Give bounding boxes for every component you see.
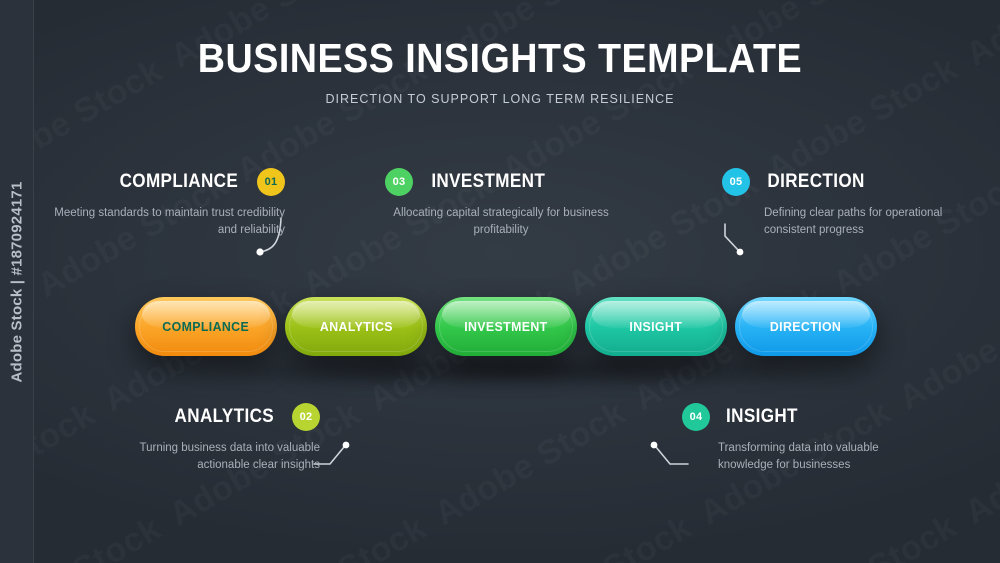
pill-analytics[interactable]: ANALYTICS <box>285 297 427 356</box>
info-desc-direction: Defining clear paths for operational con… <box>722 205 952 240</box>
stock-watermark-text: Adobe Stock | #1870924171 <box>8 181 25 382</box>
info-block-insight[interactable]: 04 INSIGHT Transforming data into valuab… <box>682 403 917 475</box>
pill-compliance[interactable]: COMPLIANCE <box>135 297 277 356</box>
badge-03: 03 <box>385 168 413 196</box>
info-title-analytics: ANALYTICS <box>175 406 275 428</box>
info-block-compliance[interactable]: COMPLIANCE 01 Meeting standards to maint… <box>50 168 285 240</box>
info-head-investment: 03 INVESTMENT <box>385 168 617 196</box>
infographic-canvas: Adobe StockAdobe StockAdobe StockAdobe S… <box>0 0 1000 563</box>
pill-row-shadow <box>150 352 870 388</box>
badge-02: 02 <box>292 403 320 431</box>
pill-insight[interactable]: INSIGHT <box>585 297 727 356</box>
watermark-text: Adobe Stock <box>229 508 433 563</box>
watermark-text: Adobe Stock <box>892 277 1000 417</box>
watermark-text: Adobe Stock <box>759 507 963 563</box>
info-desc-investment: Allocating capital strategically for bus… <box>385 205 617 240</box>
info-title-insight: INSIGHT <box>726 406 798 428</box>
pill-investment[interactable]: INVESTMENT <box>435 297 577 356</box>
watermark-text: Adobe Stock <box>428 393 632 533</box>
info-block-direction[interactable]: 05 DIRECTION Defining clear paths for op… <box>722 168 952 240</box>
info-head-insight: 04 INSIGHT <box>682 403 917 431</box>
info-desc-insight: Transforming data into valuable knowledg… <box>682 440 917 475</box>
info-head-compliance: COMPLIANCE 01 <box>50 168 285 196</box>
info-block-investment[interactable]: 03 INVESTMENT Allocating capital strateg… <box>385 168 617 240</box>
pill-label: INVESTMENT <box>464 319 547 334</box>
info-title-direction: DIRECTION <box>767 171 864 193</box>
pill-label: DIRECTION <box>770 319 841 334</box>
pill-label: ANALYTICS <box>320 319 393 334</box>
page-subtitle: DIRECTION TO SUPPORT LONG TERM RESILIENC… <box>0 92 1000 106</box>
pill-row: COMPLIANCEANALYTICSINVESTMENTINSIGHTDIRE… <box>135 297 877 356</box>
pill-label: INSIGHT <box>630 319 683 334</box>
watermark-text: Adobe Stock <box>958 392 1000 532</box>
info-block-analytics[interactable]: ANALYTICS 02 Turning business data into … <box>95 403 320 475</box>
pill-label: COMPLIANCE <box>163 319 250 334</box>
badge-04: 04 <box>682 403 710 431</box>
pill-direction[interactable]: DIRECTION <box>735 297 877 356</box>
info-title-investment: INVESTMENT <box>431 171 545 193</box>
badge-01: 01 <box>257 168 285 196</box>
header: BUSINESS INSIGHTS TEMPLATE DIRECTION TO … <box>0 38 1000 106</box>
badge-05: 05 <box>722 168 750 196</box>
page-title: BUSINESS INSIGHTS TEMPLATE <box>40 38 960 79</box>
info-desc-compliance: Meeting standards to maintain trust cred… <box>50 205 285 240</box>
info-head-direction: 05 DIRECTION <box>722 168 952 196</box>
watermark-text: Adobe Stock <box>494 507 698 563</box>
info-title-compliance: COMPLIANCE <box>120 171 239 193</box>
info-head-analytics: ANALYTICS 02 <box>95 403 320 431</box>
stock-rail: Adobe Stock | #1870924171 <box>0 0 34 563</box>
info-desc-analytics: Turning business data into valuable acti… <box>95 440 320 475</box>
